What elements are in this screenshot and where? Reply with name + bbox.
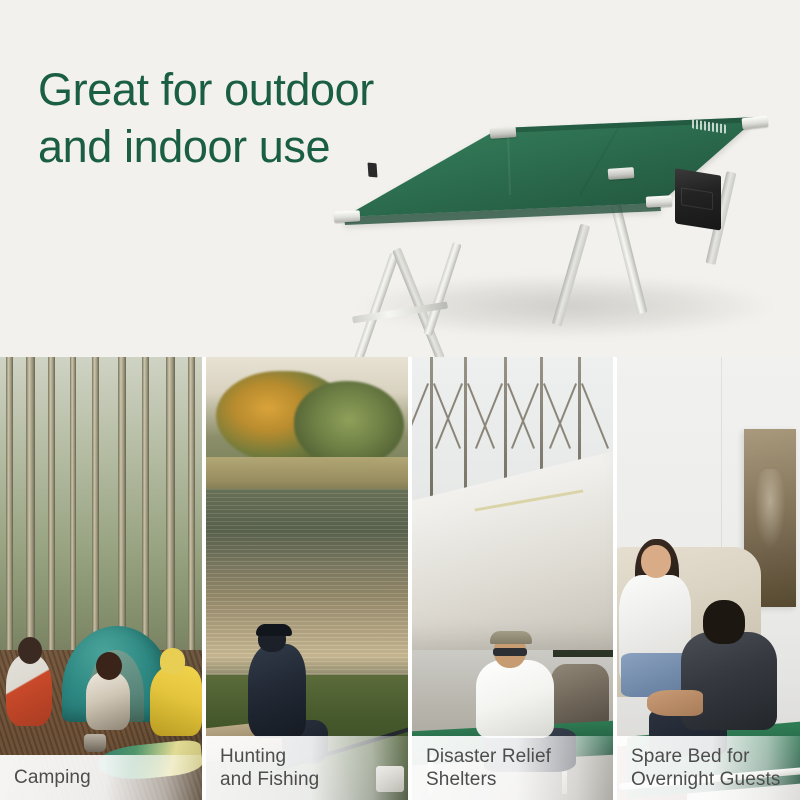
panel-caption-hunting-and-fishing: Hunting and Fishing	[206, 736, 408, 800]
cot-endcap-front-right	[646, 195, 673, 207]
tree-trunk	[166, 357, 175, 683]
tree-trunk	[188, 357, 195, 683]
baseball-cap	[490, 631, 532, 644]
use-case-panel-spare-bed-overnight-guests[interactable]: Spare Bed for Overnight Guests	[617, 357, 800, 800]
angler-torso	[248, 644, 306, 738]
use-case-panel-hunting-and-fishing[interactable]: Hunting and Fishing	[206, 357, 408, 800]
tree-trunk	[26, 357, 35, 683]
cot-endcap-mid-left	[490, 126, 517, 139]
camper-left	[6, 654, 52, 726]
cot-endcap-mid-right	[608, 167, 635, 180]
man-arm	[647, 690, 703, 716]
pocket-strap	[368, 163, 378, 178]
reed-bank	[206, 457, 408, 493]
lake-water	[206, 489, 408, 679]
use-case-panel-camping[interactable]: Camping	[0, 357, 202, 800]
green-tree-canopy	[294, 381, 404, 467]
use-case-strip: Camping Hunting and Fishing	[0, 357, 800, 800]
panel-caption-disaster-relief-shelters: Disaster Relief Shelters	[412, 736, 613, 800]
panel-caption-spare-bed-overnight-guests: Spare Bed for Overnight Guests	[617, 736, 800, 800]
tree-trunk	[6, 357, 13, 683]
product-image-camping-cot	[330, 95, 800, 357]
use-case-panel-disaster-relief-shelters[interactable]: Disaster Relief Shelters	[412, 357, 613, 800]
man-head	[703, 600, 745, 644]
hero-section: Great for outdoor and indoor use	[0, 0, 800, 357]
tree-trunk	[48, 357, 55, 683]
cot-canvas-deck	[330, 95, 800, 270]
camper-right-head	[160, 648, 185, 674]
camper-center	[86, 672, 130, 730]
page-title: Great for outdoor and indoor use	[38, 62, 374, 175]
disaster-relief-photo	[412, 357, 613, 800]
cot-endcap-front-left	[334, 210, 361, 222]
angler-beanie	[256, 624, 292, 636]
sunglasses-icon	[493, 648, 527, 656]
camping-photo	[0, 357, 202, 800]
camper-left-head	[18, 637, 42, 664]
camp-kettle	[84, 734, 106, 752]
cot-side-pocket	[675, 168, 721, 230]
camper-center-head	[96, 652, 122, 680]
fishing-photo	[206, 357, 408, 800]
spare-bed-photo	[617, 357, 800, 800]
tree-trunk	[70, 357, 76, 683]
people-in-background	[551, 664, 609, 726]
panel-caption-camping: Camping	[0, 755, 202, 800]
woman-head	[641, 545, 671, 578]
seated-man-torso	[476, 660, 554, 738]
camper-right	[150, 666, 202, 736]
